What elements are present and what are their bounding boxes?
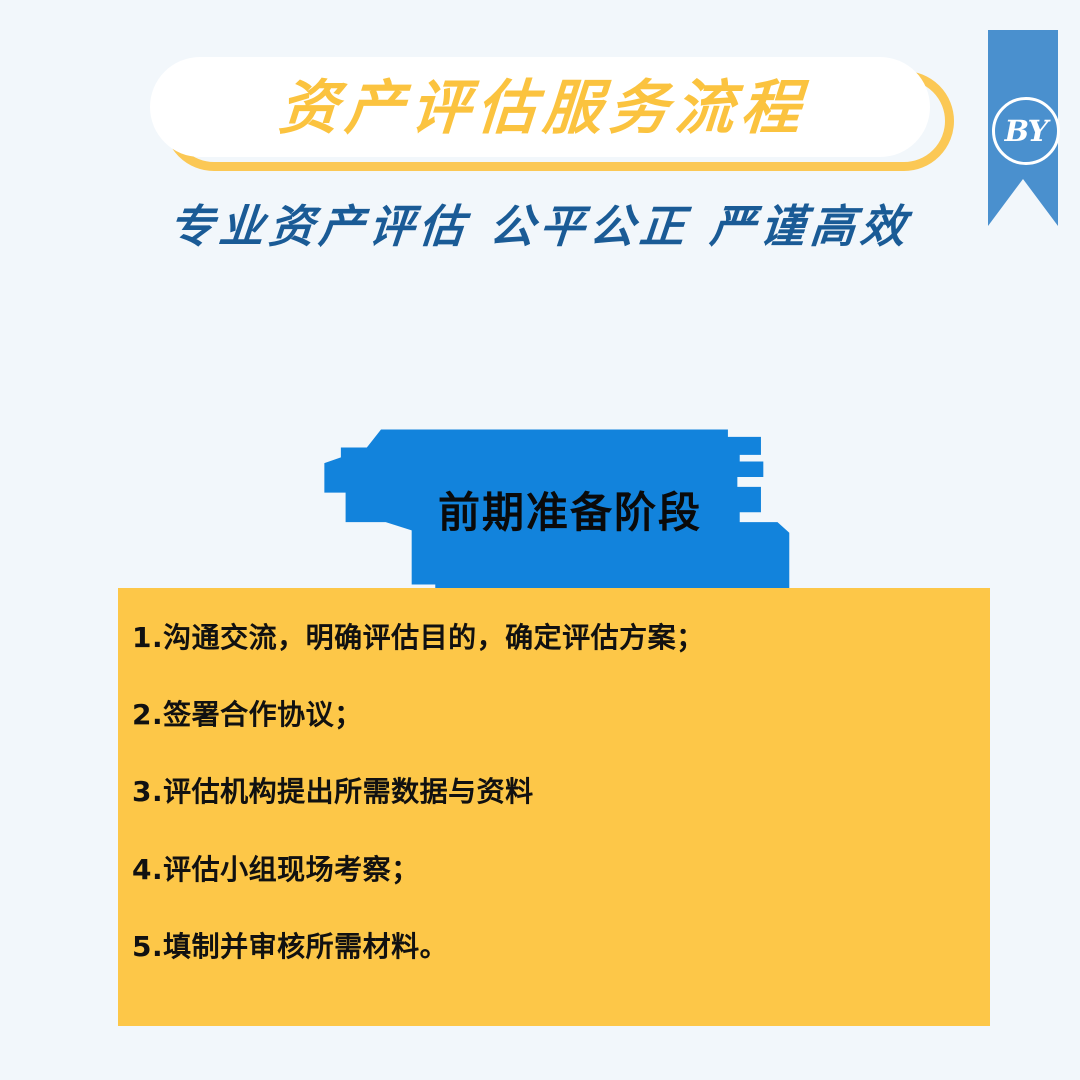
stage-banner: 前期准备阶段 <box>322 427 794 591</box>
list-item: 3.评估机构提出所需数据与资料 <box>132 776 970 808</box>
steps-list: 1.沟通交流，明确评估目的，确定评估方案； 2.签署合作协议； 3.评估机构提出… <box>132 622 970 963</box>
list-item: 2.签署合作协议； <box>132 699 970 731</box>
page-subtitle: 专业资产评估 公平公正 严谨高效 <box>0 190 1080 255</box>
list-item: 1.沟通交流，明确评估目的，确定评估方案； <box>132 622 970 654</box>
stage-title: 前期准备阶段 <box>322 427 794 591</box>
title-banner: 资产评估服务流程 <box>150 57 950 167</box>
brand-initials: BY <box>992 97 1060 165</box>
title-pill: 资产评估服务流程 <box>150 57 930 157</box>
list-item: 4.评估小组现场考察； <box>132 854 970 886</box>
steps-card: 1.沟通交流，明确评估目的，确定评估方案； 2.签署合作协议； 3.评估机构提出… <box>118 588 990 1026</box>
page-title: 资产评估服务流程 <box>271 78 809 137</box>
list-item: 5.填制并审核所需材料。 <box>132 931 970 963</box>
poster-root: 资产评估服务流程 BY 专业资产评估 公平公正 严谨高效 前期准备阶段 1.沟通… <box>0 0 1080 1080</box>
